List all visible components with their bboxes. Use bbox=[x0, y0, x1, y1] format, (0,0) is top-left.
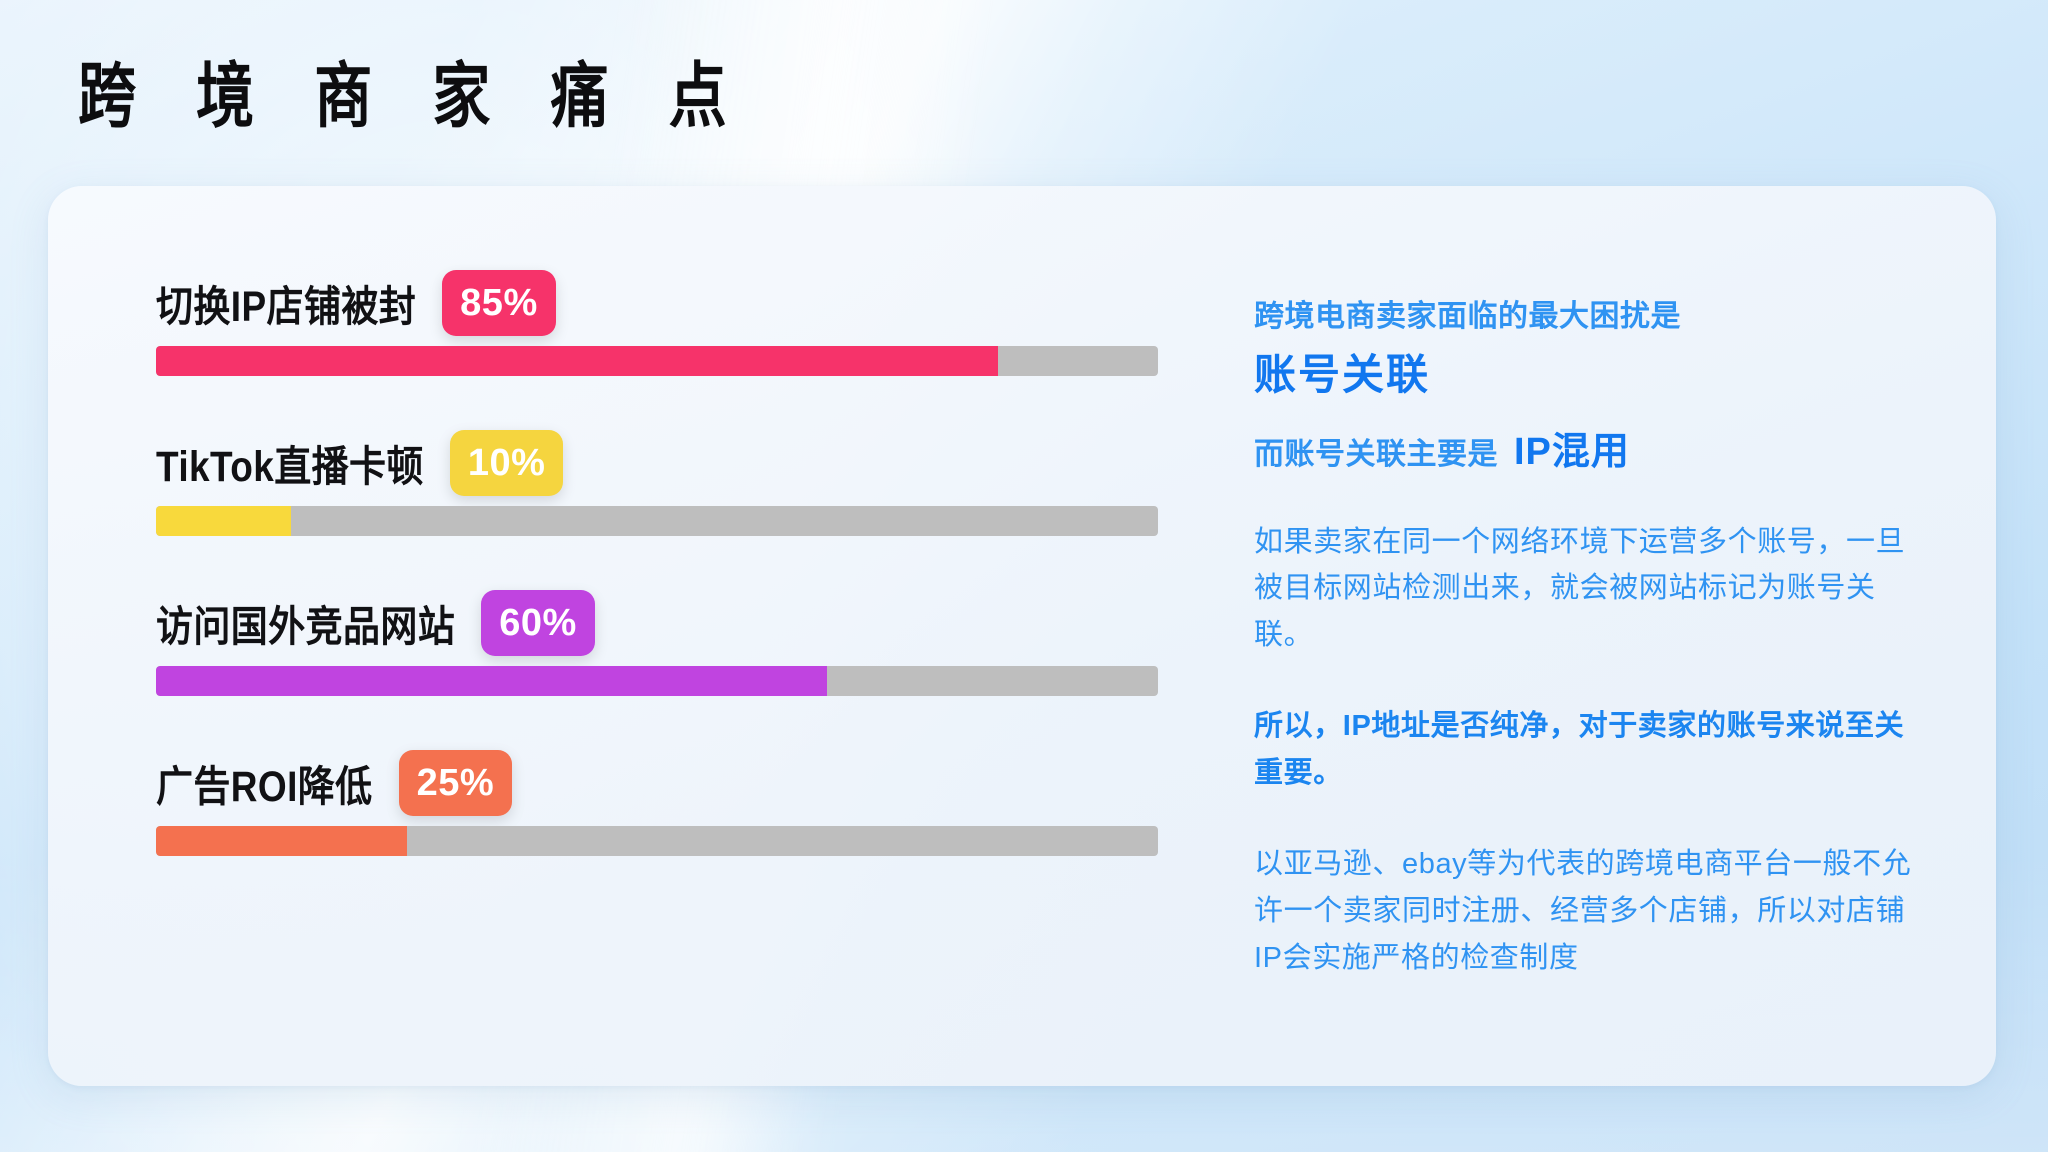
lead-line-secondary-highlight: IP混用 bbox=[1514, 420, 1630, 475]
bar-header: 访问国外竞品网站 60% bbox=[108, 580, 1188, 666]
bar-row: 访问国外竞品网站 60% bbox=[108, 580, 1188, 740]
bar-track bbox=[156, 346, 1158, 376]
bar-value-badge: 60% bbox=[481, 590, 595, 656]
bar-value-badge: 25% bbox=[399, 750, 513, 816]
bar-track bbox=[156, 826, 1158, 856]
bar-label: TikTok直播卡顿 bbox=[156, 432, 424, 494]
bar-row: 广告ROI降低 25% bbox=[108, 740, 1188, 900]
bar-label: 切换IP店铺被封 bbox=[156, 272, 416, 334]
lead-line-secondary-prefix: 而账号关联主要是 bbox=[1254, 429, 1498, 473]
bar-value-badge: 10% bbox=[450, 430, 564, 496]
bar-label: 广告ROI降低 bbox=[156, 752, 373, 814]
bar-row: TikTok直播卡顿 10% bbox=[108, 420, 1188, 580]
bar-label: 访问国外竞品网站 bbox=[156, 592, 455, 654]
paragraph-3: 以亚马逊、ebay等为代表的跨境电商平台一般不允许一个卖家同时注册、经营多个店铺… bbox=[1254, 841, 1926, 982]
bar-chart: 切换IP店铺被封 85% TikTok直播卡顿 10% 访问国外竞品网站 60% bbox=[48, 186, 1188, 1086]
bar-value-badge: 85% bbox=[442, 270, 556, 336]
bar-track bbox=[156, 666, 1158, 696]
bar-header: 切换IP店铺被封 85% bbox=[108, 260, 1188, 346]
explanation-panel: 跨境电商卖家面临的最大困扰是 账号关联 而账号关联主要是 IP混用 如果卖家在同… bbox=[1188, 186, 1996, 1086]
paragraph-1: 如果卖家在同一个网络环境下运营多个账号，一旦被目标网站检测出来，就会被网站标记为… bbox=[1254, 519, 1926, 660]
bar-fill bbox=[156, 666, 827, 696]
bar-header: 广告ROI降低 25% bbox=[108, 740, 1188, 826]
paragraph-2: 所以，IP地址是否纯净，对于卖家的账号来说至关重要。 bbox=[1254, 703, 1926, 797]
bar-fill bbox=[156, 826, 407, 856]
content-card: 切换IP店铺被封 85% TikTok直播卡顿 10% 访问国外竞品网站 60% bbox=[48, 186, 1996, 1086]
lead-line: 跨境电商卖家面临的最大困扰是 bbox=[1254, 294, 1926, 339]
lead-keyword: 账号关联 bbox=[1254, 349, 1926, 402]
bar-fill bbox=[156, 346, 998, 376]
bar-fill bbox=[156, 506, 291, 536]
bar-track bbox=[156, 506, 1158, 536]
bar-header: TikTok直播卡顿 10% bbox=[108, 420, 1188, 506]
lead-line-secondary: 而账号关联主要是 IP混用 bbox=[1254, 420, 1926, 475]
bar-row: 切换IP店铺被封 85% bbox=[108, 260, 1188, 420]
page-title: 跨 境 商 家 痛 点 bbox=[78, 62, 749, 133]
